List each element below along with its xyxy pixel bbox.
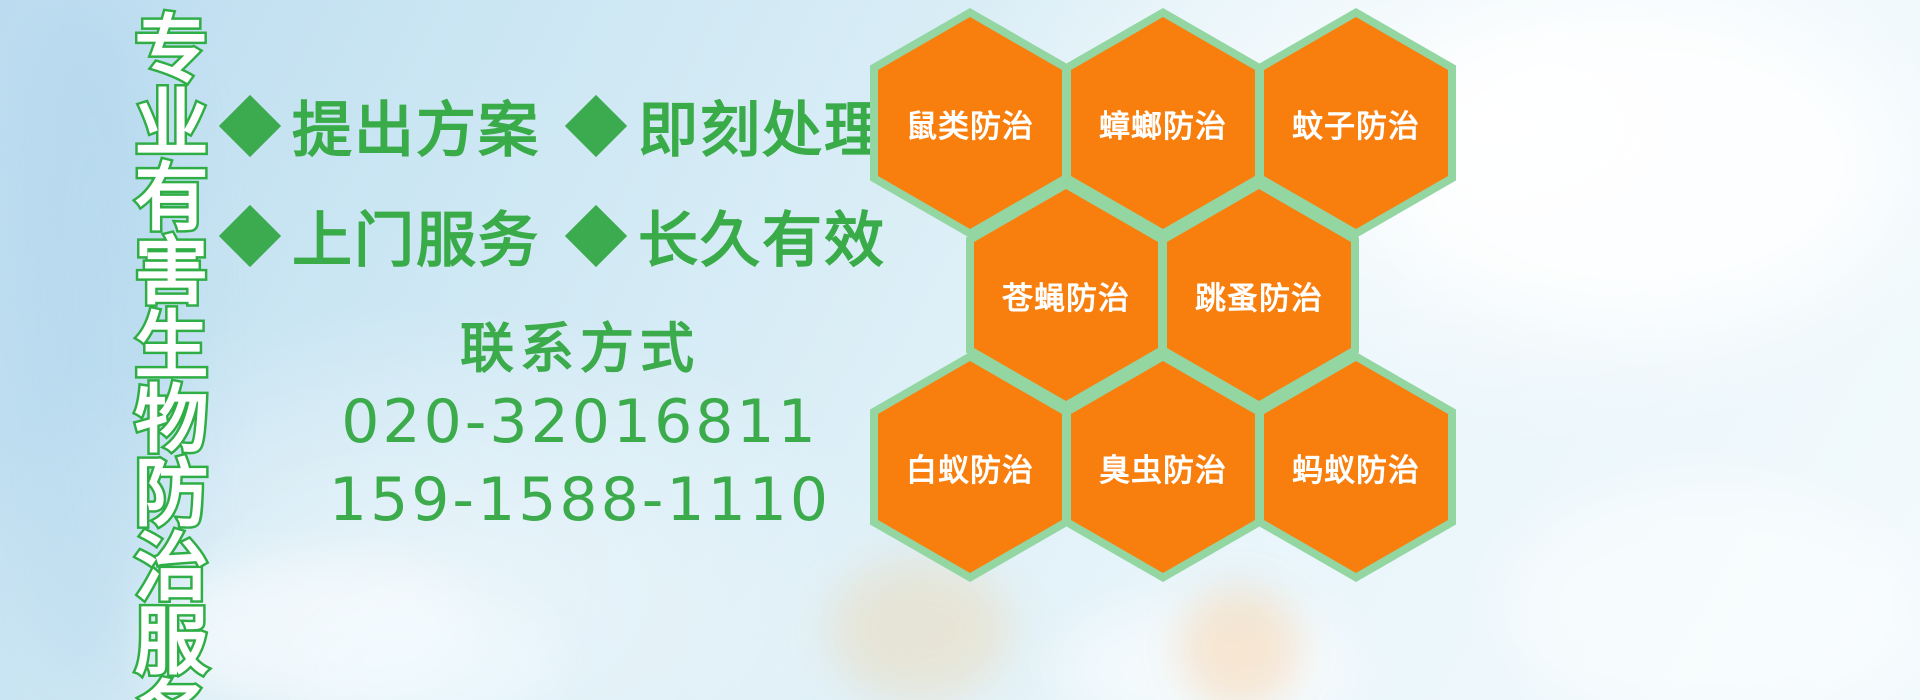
hex-inner: 白蚁防治 [878,361,1062,573]
feature-label-onsite-service: 上门服务 [292,192,540,279]
hex-inner: 臭虫防治 [1071,361,1255,573]
hex-inner: 蚂蚁防治 [1264,361,1448,573]
vertical-title: 专业有害生物防治服务 [104,10,200,570]
diamond-icon [219,204,281,266]
feature-label-long-lasting: 长久有效 [638,192,886,279]
background-blob [300,600,560,700]
hex-label: 蚂蚁防治 [1292,445,1420,490]
hex-label: 鼠类防治 [906,101,1034,146]
hex-label: 蟑螂防治 [1099,101,1227,146]
background-blob [1060,600,1360,700]
background-blob [1500,480,1920,700]
honeycomb-service-grid: 鼠类防治 蟑螂防治 蚊子防治 苍蝇防治 跳蚤防治 白蚁防治 [860,0,1460,560]
pest-control-banner: 专业有害生物防治服务 提出方案 即刻处理 上门服务 长久有效 联系方式 020-… [0,0,1920,700]
diamond-icon [565,204,627,266]
hex-inner: 鼠类防治 [878,17,1062,229]
feature-label-propose-plan: 提出方案 [292,82,540,169]
hex-label: 苍蝇防治 [1002,273,1130,318]
hex-inner: 苍蝇防治 [974,189,1158,401]
feature-row-1: 提出方案 即刻处理 [228,82,886,169]
hex-label: 臭虫防治 [1099,445,1227,490]
phone-mobile[interactable]: 159-1588-1110 [300,461,860,539]
diamond-icon [219,94,281,156]
feature-label-immediate-treatment: 即刻处理 [638,82,886,169]
feature-row-2: 上门服务 长久有效 [228,192,886,279]
background-blob [1180,588,1300,700]
hex-label: 蚊子防治 [1292,101,1420,146]
contact-title: 联系方式 [300,315,860,383]
hex-label: 白蚁防治 [906,445,1034,490]
phone-landline[interactable]: 020-32016811 [300,383,860,461]
hex-label: 跳蚤防治 [1195,273,1323,318]
hex-inner: 蚊子防治 [1264,17,1448,229]
hex-inner: 蟑螂防治 [1071,17,1255,229]
background-blob [830,560,1010,700]
hex-inner: 跳蚤防治 [1167,189,1351,401]
diamond-icon [565,94,627,156]
contact-block: 联系方式 020-32016811 159-1588-1110 [300,315,860,539]
